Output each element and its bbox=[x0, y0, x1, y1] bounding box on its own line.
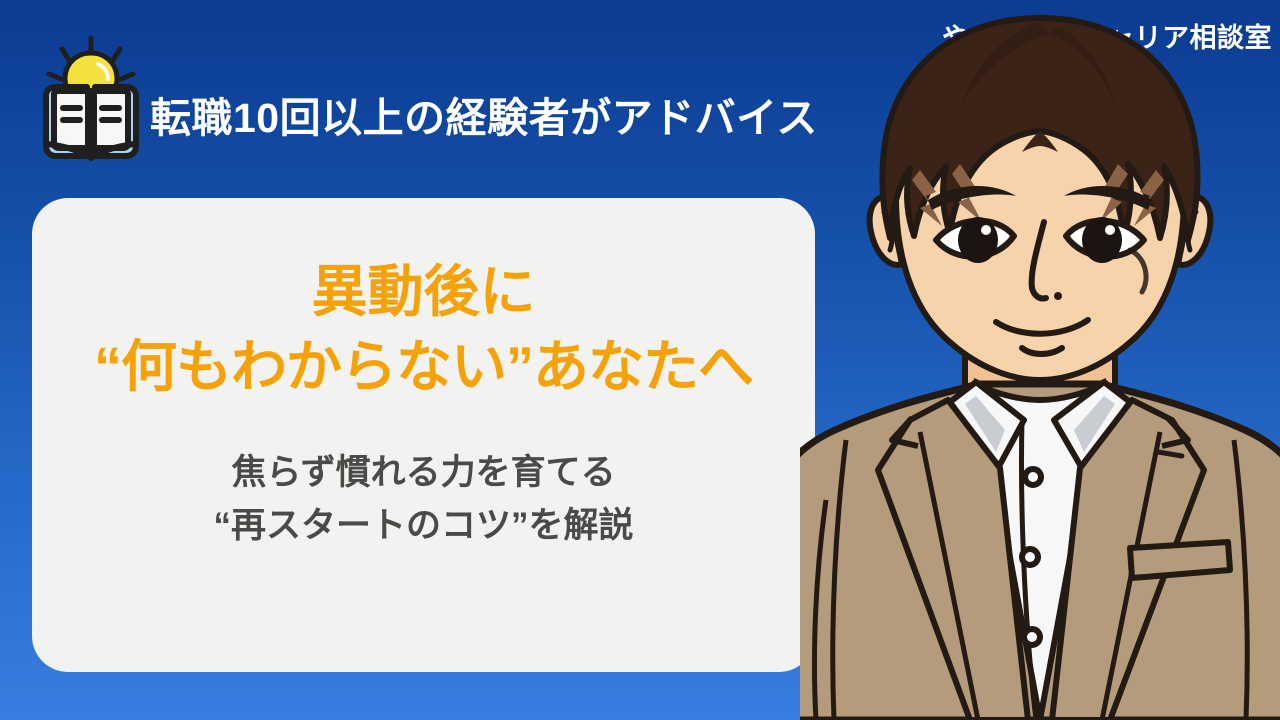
page-subtitle: 焦らず慣れる力を育てる “再スタートのコツ”を解説 bbox=[213, 446, 633, 552]
page-title: 異動後に “何もわからない”あなたへ bbox=[94, 254, 753, 404]
channel-name-label: やす先輩のキャリア相談室 bbox=[942, 16, 1272, 55]
header-band: 転職10回以上の経験者がアドバイス やす先輩のキャリア相談室 bbox=[0, 0, 1280, 176]
book-with-lightbulb-icon bbox=[32, 34, 150, 164]
page-subtitle-line-1: 焦らず慣れる力を育てる bbox=[213, 446, 633, 499]
page-subtitle-line-2: “再スタートのコツ”を解説 bbox=[213, 499, 633, 552]
header-title: 転職10回以上の経験者がアドバイス bbox=[150, 96, 818, 141]
main-content-card: 異動後に “何もわからない”あなたへ 焦らず慣れる力を育てる “再スタートのコツ… bbox=[32, 198, 815, 672]
page-title-line-2: “何もわからない”あなたへ bbox=[94, 329, 753, 404]
page-title-line-1: 異動後に bbox=[94, 254, 753, 329]
slide-canvas: 転職10回以上の経験者がアドバイス やす先輩のキャリア相談室 異動後に “何もわ… bbox=[0, 0, 1280, 720]
